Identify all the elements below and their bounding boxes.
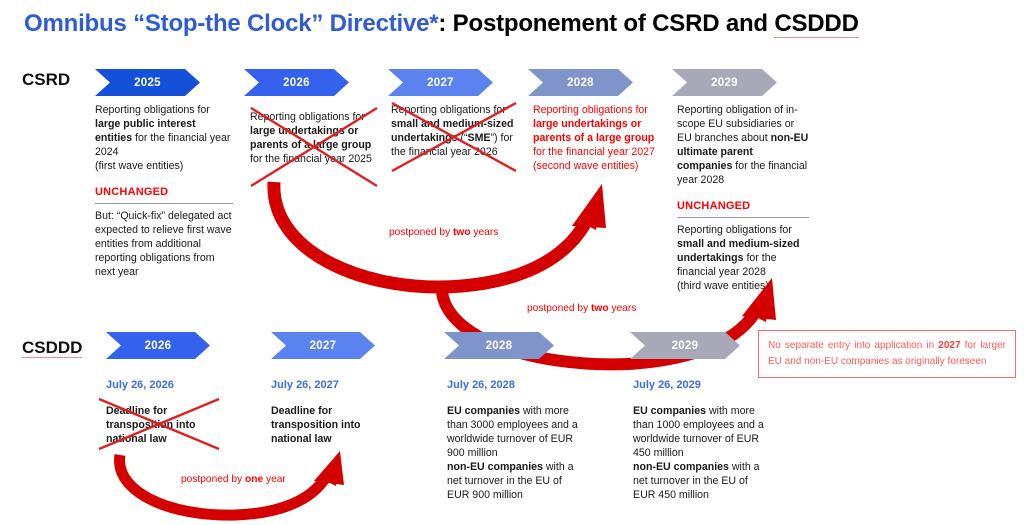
csddd-block-2028: July 26, 2028 EU companies with more tha… <box>447 378 587 502</box>
chevron-csddd-2026: 2026 <box>106 332 210 359</box>
title-black-part: : Postponement of CSRD and <box>438 10 774 37</box>
csrd-block-2027: Reporting obligations for small and medi… <box>391 103 519 159</box>
csrd-block-2026: Reporting obligations for large undertak… <box>250 110 376 166</box>
csrd-2025-wave: (first wave entities) <box>95 160 183 172</box>
csddd-block-2026: July 26, 2026 Deadline for transposition… <box>106 378 236 446</box>
arrow-csddd-2026-to-2027 <box>100 455 360 525</box>
page-title: Omnibus “Stop-the Clock” Directive*: Pos… <box>24 10 859 38</box>
chevron-csrd-2026: 2026 <box>244 69 349 96</box>
infographic-canvas: Omnibus “Stop-the Clock” Directive*: Pos… <box>0 0 1024 517</box>
row-label-csddd: CSDDD <box>22 338 82 358</box>
arrow-csrd-2026-to-2028 <box>250 182 630 307</box>
row-label-csrd: CSRD <box>22 70 70 90</box>
csddd-2029-body: EU companies with more than 1000 employe… <box>633 404 773 503</box>
divider <box>95 203 233 204</box>
csddd-2028-date: July 26, 2028 <box>447 378 587 393</box>
title-underlined-part: CSDDD <box>774 10 858 38</box>
chevron-csrd-2027: 2027 <box>388 69 493 96</box>
chevron-csddd-2028: 2028 <box>444 332 554 359</box>
chevron-csrd-2028: 2028 <box>528 69 633 96</box>
csddd-2028-body: EU companies with more than 3000 employe… <box>447 404 587 503</box>
chevron-csddd-2027: 2027 <box>271 332 375 359</box>
divider <box>677 217 809 218</box>
csrd-2026-body: Reporting obligations for large undertak… <box>250 110 376 166</box>
csddd-2027-date: July 26, 2027 <box>271 378 401 393</box>
csrd-block-2025: Reporting obligations for large public i… <box>95 103 233 279</box>
chevron-csrd-2029: 2029 <box>672 69 777 96</box>
arrow-caption-csrd-2026-to-2028: postponed by two years <box>389 227 498 238</box>
csddd-2027-body: Deadline for transposition into national… <box>271 404 401 446</box>
csrd-2029-wave: (third wave entities) <box>677 280 769 292</box>
csddd-2026-body: Deadline for transposition into national… <box>106 404 236 446</box>
csrd-2025-unchanged-label: UNCHANGED <box>95 185 233 200</box>
csrd-block-2029: Reporting obligation of in-scope EU subs… <box>677 103 809 293</box>
chevron-csrd-2025: 2025 <box>95 69 200 96</box>
csrd-block-2028: Reporting obligations for large undertak… <box>533 103 659 173</box>
title-blue-part: Omnibus “Stop-the Clock” Directive* <box>24 10 438 37</box>
csrd-2028-wave: (second wave entities) <box>533 160 638 172</box>
arrow-caption-csrd-2027-to-2029: postponed by two years <box>527 303 636 314</box>
csrd-2025-note: But: “Quick-fix” delegated act expected … <box>95 209 233 279</box>
csddd-2026-date: July 26, 2026 <box>106 378 236 393</box>
csrd-2029-body: Reporting obligation of in-scope EU subs… <box>677 103 809 187</box>
csrd-2029-note: Reporting obligations for small and medi… <box>677 223 809 293</box>
csddd-2029-date: July 26, 2029 <box>633 378 773 393</box>
chevron-csddd-2029: 2029 <box>630 332 740 359</box>
csddd-block-2027: July 26, 2027 Deadline for transposition… <box>271 378 401 446</box>
csrd-2028-body: Reporting obligations for large undertak… <box>533 103 659 173</box>
csddd-note-box: No separate entry into application in 20… <box>758 330 1016 378</box>
csrd-2025-body: Reporting obligations for large public i… <box>95 103 233 173</box>
csrd-2027-body: Reporting obligations for small and medi… <box>391 103 519 159</box>
arrow-caption-csddd-2026-to-2027: postponed by one year <box>181 474 286 485</box>
csrd-2029-unchanged-label: UNCHANGED <box>677 199 809 214</box>
csddd-block-2029: July 26, 2029 EU companies with more tha… <box>633 378 773 502</box>
